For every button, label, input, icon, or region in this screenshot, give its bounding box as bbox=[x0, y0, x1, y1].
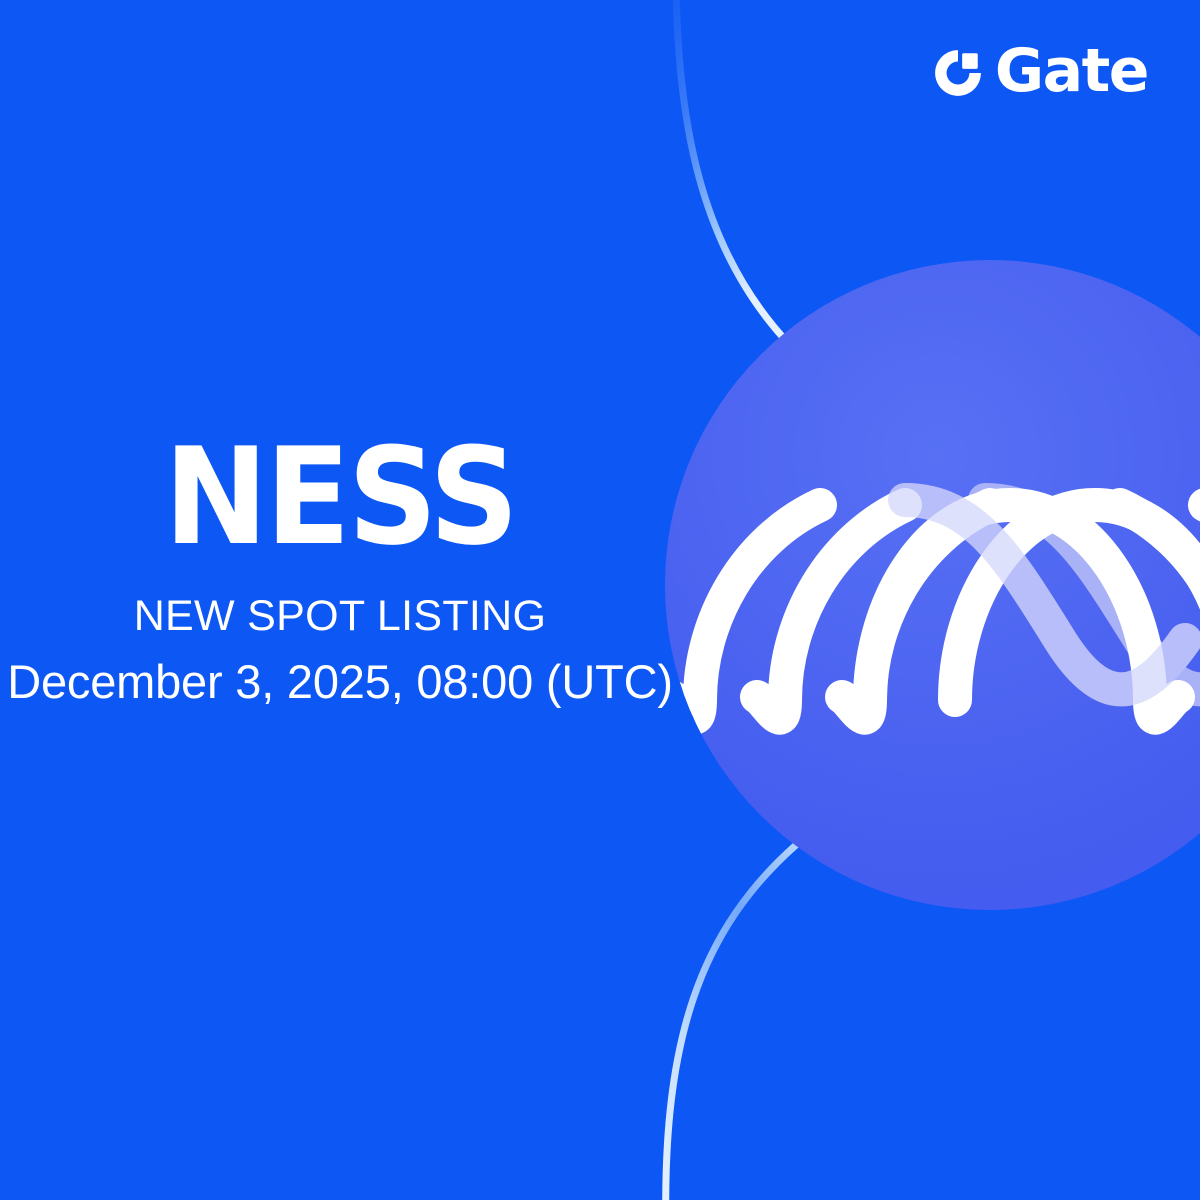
listing-date-label: December 3, 2025, 08:00 (UTC) bbox=[0, 655, 680, 709]
token-ticker: NESS bbox=[24, 430, 656, 564]
gate-brand-logo[interactable]: Gate bbox=[932, 40, 1148, 106]
announcement-text-block: NESS NEW SPOT LISTING December 3, 2025, … bbox=[0, 430, 680, 709]
listing-type-label: NEW SPOT LISTING bbox=[0, 592, 680, 641]
gate-circle-mark bbox=[932, 47, 984, 99]
listing-announcement-banner: Gate NESS NEW SPOT LISTING December 3, 2… bbox=[0, 0, 1200, 1200]
gate-wordmark: Gate bbox=[995, 41, 1148, 101]
